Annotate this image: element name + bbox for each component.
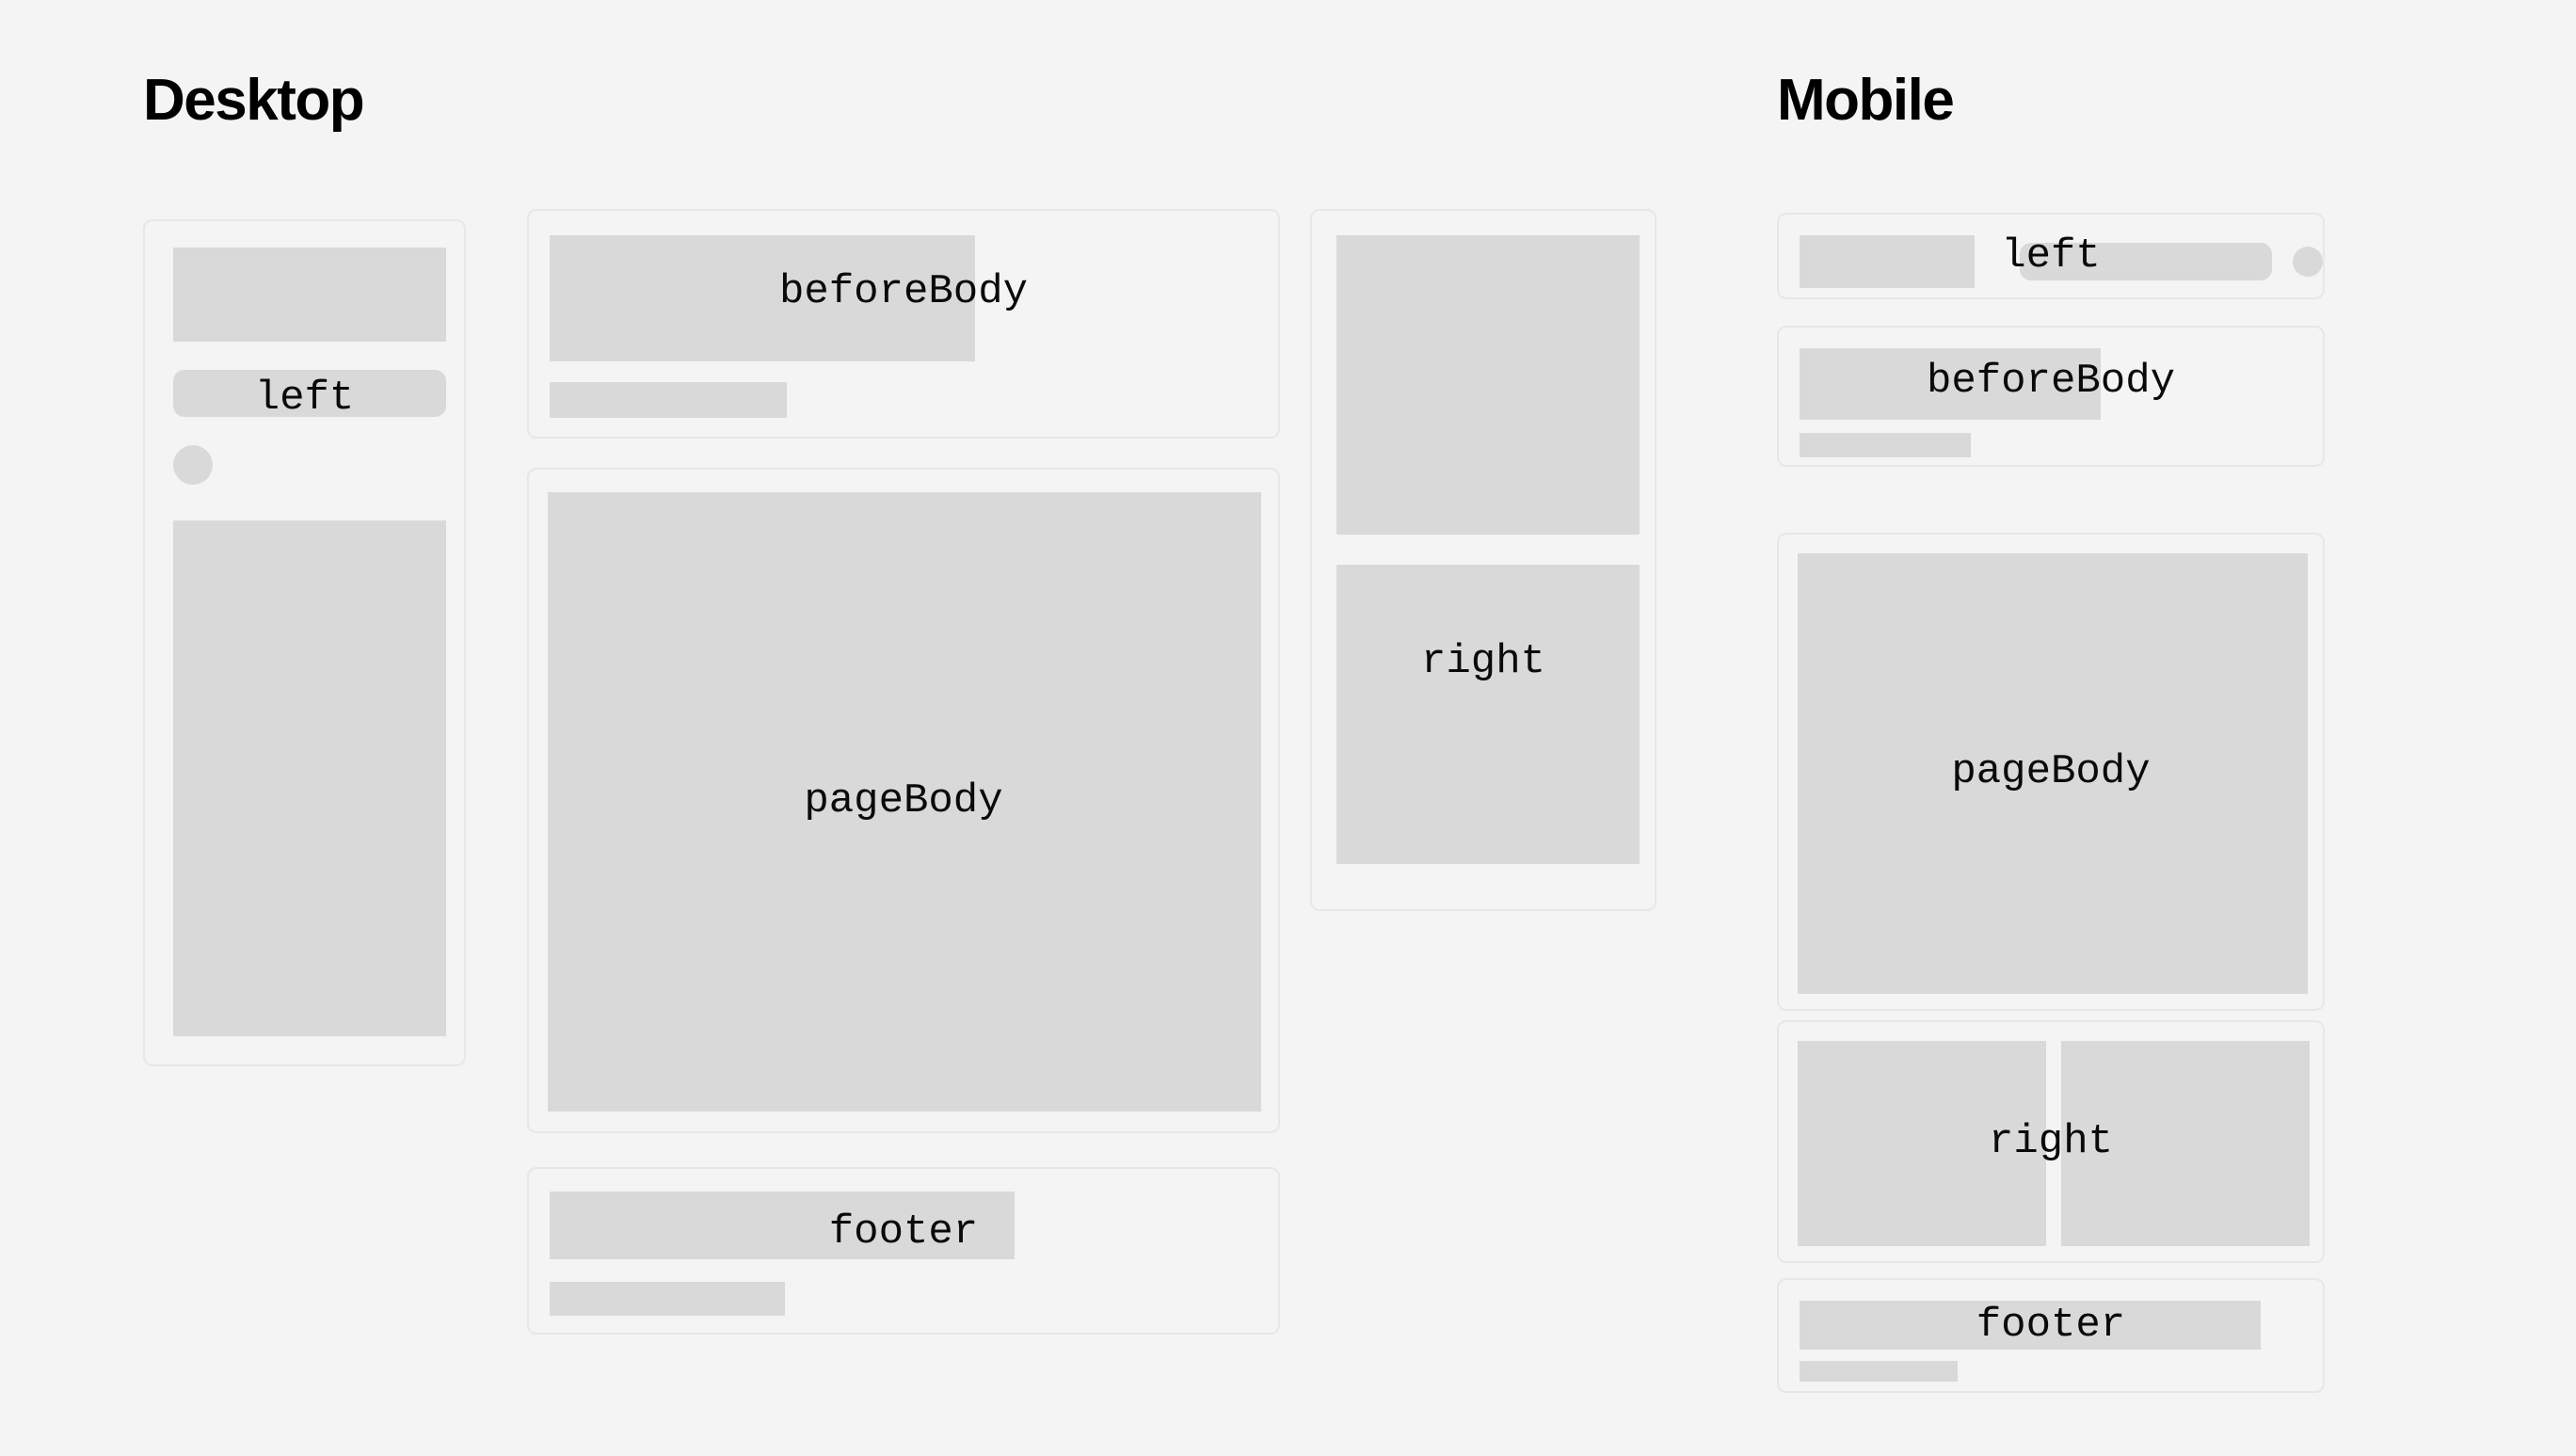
desktop-footer-panel[interactable]	[527, 1167, 1280, 1335]
section-title-desktop: Desktop	[143, 72, 363, 130]
placeholder-block	[1336, 235, 1640, 535]
placeholder-bar	[2020, 243, 2272, 280]
placeholder-block	[2061, 1041, 2310, 1246]
mobile-right-panel[interactable]	[1777, 1020, 2325, 1263]
placeholder-block	[1800, 235, 1975, 288]
desktop-page-body-panel[interactable]	[527, 468, 1280, 1133]
placeholder-block	[1800, 348, 2101, 420]
placeholder-block-large	[548, 492, 1261, 1112]
placeholder-avatar-circle	[2293, 247, 2323, 277]
section-title-mobile: Mobile	[1777, 72, 1953, 130]
desktop-right-panel[interactable]	[1310, 209, 1656, 911]
placeholder-bar	[550, 382, 787, 418]
placeholder-block	[1800, 1301, 2261, 1350]
mobile-footer-panel[interactable]	[1777, 1278, 2325, 1393]
placeholder-bar	[173, 370, 446, 417]
mobile-before-body-panel[interactable]	[1777, 326, 2325, 467]
mobile-page-body-panel[interactable]	[1777, 533, 2325, 1011]
wireframe-stage: Desktop left beforeBody pageBody right f…	[0, 0, 2576, 1456]
desktop-left-panel[interactable]	[143, 219, 466, 1066]
placeholder-bar	[1800, 433, 1971, 457]
placeholder-block-tall	[173, 520, 446, 1036]
placeholder-block	[173, 248, 446, 342]
placeholder-block-large	[1798, 553, 2308, 994]
placeholder-avatar-circle	[173, 445, 213, 485]
placeholder-block	[550, 1192, 1015, 1259]
placeholder-block	[1336, 565, 1640, 864]
placeholder-bar	[550, 1282, 785, 1316]
placeholder-bar	[1800, 1361, 1958, 1382]
placeholder-block	[550, 235, 975, 361]
placeholder-block	[1798, 1041, 2046, 1246]
desktop-before-body-panel[interactable]	[527, 209, 1280, 439]
mobile-left-panel[interactable]	[1777, 213, 2325, 299]
